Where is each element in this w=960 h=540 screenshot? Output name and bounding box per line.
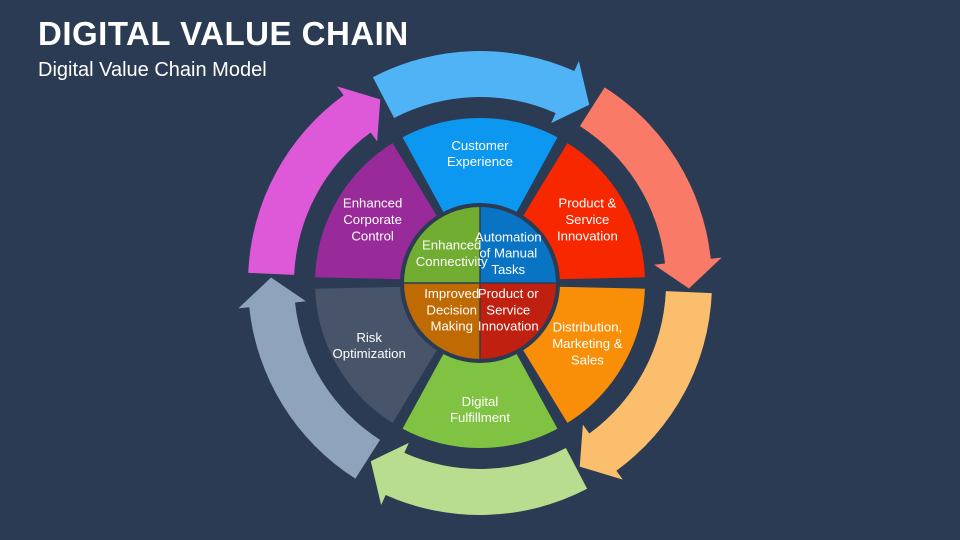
segment-label-enhanced-corporate-control: EnhancedCorporateControl bbox=[343, 196, 402, 244]
wheel-svg: CustomerExperienceProduct &ServiceInnova… bbox=[0, 0, 960, 540]
arrow-digital-fulfillment[interactable] bbox=[371, 443, 587, 515]
digital-value-chain-diagram: CustomerExperienceProduct &ServiceInnova… bbox=[0, 0, 960, 540]
segment-label-product-service-innovation: Product &ServiceInnovation bbox=[557, 196, 618, 244]
arrow-shape-digital-fulfillment bbox=[371, 443, 587, 515]
segment-label-customer-experience: CustomerExperience bbox=[447, 138, 513, 169]
hub-label-product-or-service-innovation: Product orServiceInnovation bbox=[478, 286, 539, 334]
title-block: DIGITAL VALUE CHAIN Digital Value Chain … bbox=[38, 16, 409, 81]
hub-label-enhanced-connectivity: EnhancedConnectivity bbox=[416, 238, 488, 269]
hub-label-improved-decision-making: ImprovedDecisionMaking bbox=[424, 286, 479, 334]
page-subtitle: Digital Value Chain Model bbox=[38, 59, 409, 81]
page-title: DIGITAL VALUE CHAIN bbox=[38, 16, 409, 53]
slide-canvas: DIGITAL VALUE CHAIN Digital Value Chain … bbox=[0, 0, 960, 540]
